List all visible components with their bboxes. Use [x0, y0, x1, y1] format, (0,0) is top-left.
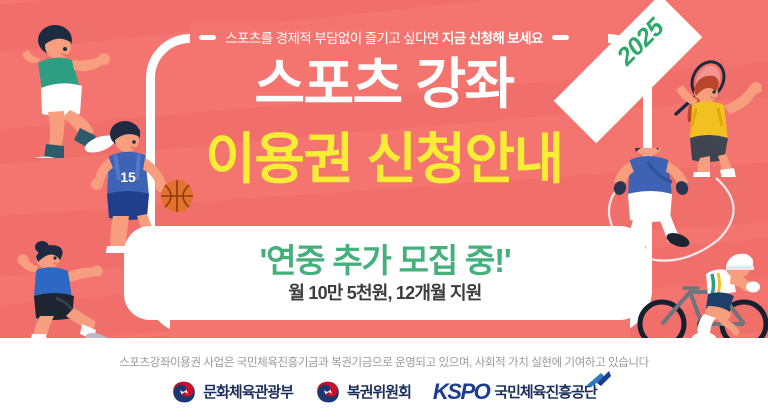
- runner-illustration: [10, 238, 120, 348]
- kspo-wordmark: KSPO: [433, 379, 489, 405]
- taegeuk-icon: [171, 379, 197, 405]
- logo-kspo-label: 국민체육진흥공단: [494, 381, 596, 402]
- kspo-swoosh-icon: [585, 371, 611, 387]
- callout-headline: '연중 추가 모집 중!': [259, 243, 510, 279]
- footer-bar: 스포츠강좌이용권 사업은 국민체육진흥기금과 복권기금으로 운영되고 있으며, …: [0, 338, 768, 420]
- logo-lottery-label: 복권위원회: [347, 381, 411, 402]
- taegeuk-icon: [315, 379, 341, 405]
- logo-lottery[interactable]: 복권위원회: [315, 379, 411, 405]
- callout-card: '연중 추가 모집 중!' 월 10만 5천원, 12개월 지원: [124, 226, 646, 320]
- logo-row: 문화체육관광부 복권위원회 KSPO 국민체육진흥공단: [171, 379, 596, 405]
- callout-subtext: 월 10만 5천원, 12개월 지원: [288, 282, 481, 304]
- eyebrow-text: 스포츠를 경제적 부담없이 즐기고 싶다면 지금 신청해 보세요: [225, 27, 543, 47]
- promo-banner: 15: [0, 0, 768, 420]
- eyebrow-row: 스포츠를 경제적 부담없이 즐기고 싶다면 지금 신청해 보세요: [0, 26, 768, 48]
- dash-right-icon: [552, 35, 569, 40]
- logo-mcst[interactable]: 문화체육관광부: [171, 379, 293, 405]
- eyebrow-soft-text: 스포츠를 경제적 부담없이 즐기고 싶다면: [225, 31, 439, 46]
- dash-left-icon: [199, 35, 216, 40]
- headline-line-1: 스포츠 강좌: [0, 55, 768, 113]
- footer-note-text: 스포츠강좌이용권 사업은 국민체육진흥기금과 복권기금으로 운영되고 있으며, …: [119, 354, 649, 370]
- eyebrow-bold-text: 지금 신청해 보세요: [442, 31, 543, 46]
- logo-mcst-label: 문화체육관광부: [203, 381, 293, 402]
- logo-kspo[interactable]: KSPO 국민체육진흥공단: [433, 379, 597, 405]
- headline-line-2: 이용권 신청안내: [0, 130, 768, 188]
